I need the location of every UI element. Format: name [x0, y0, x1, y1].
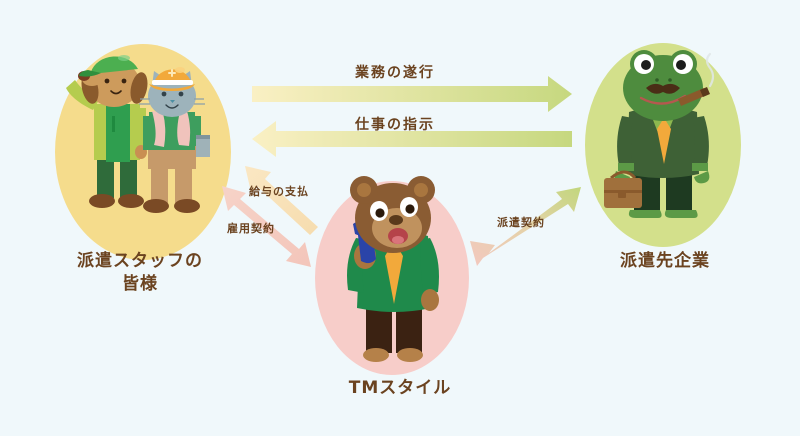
client-node-label: 派遣先企業 [575, 250, 755, 273]
flow-label-koyo: 雇用契約 [227, 220, 275, 236]
agency-node-label: TMスタイル [300, 377, 500, 400]
dispatch-flow-diagram: 派遣スタッフの 皆様 派遣先企業 TMスタイル 業務の遂行 仕事の指示 給与の支… [0, 0, 800, 436]
flow-label-shiji: 仕事の指示 [355, 114, 435, 134]
flow-label-gyomu: 業務の遂行 [355, 62, 435, 82]
flow-label-kyuyo: 給与の支払 [249, 183, 309, 199]
staff-node-label: 派遣スタッフの 皆様 [35, 250, 245, 296]
flow-label-haken: 派遣契約 [497, 214, 545, 230]
